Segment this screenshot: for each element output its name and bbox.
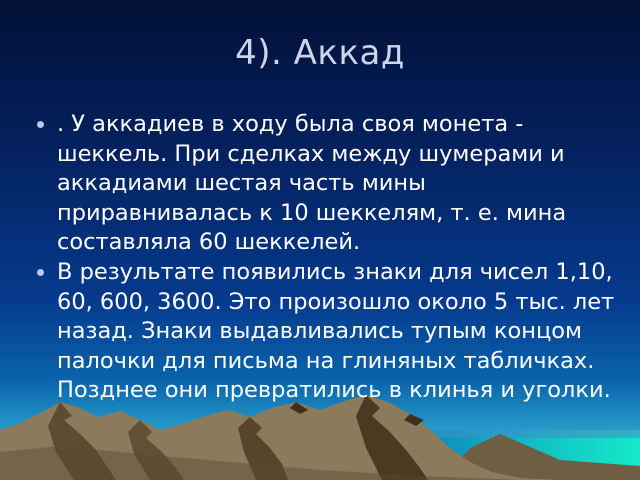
list-item: . У аккадиев в ходу была своя монета - ш… xyxy=(28,110,622,258)
list-item-text: . У аккадиев в ходу была своя монета - ш… xyxy=(57,110,622,258)
presentation-slide: 4). Аккад . У аккадиев в ходу была своя … xyxy=(0,0,640,480)
bullet-dot-icon xyxy=(37,121,44,128)
list-item-text: В результате появились знаки для чисел 1… xyxy=(57,258,622,406)
slide-body: . У аккадиев в ходу была своя монета - ш… xyxy=(28,110,622,406)
list-item: В результате появились знаки для чисел 1… xyxy=(28,258,622,406)
slide-title: 4). Аккад xyxy=(0,32,640,74)
bullet-dot-icon xyxy=(37,269,44,276)
